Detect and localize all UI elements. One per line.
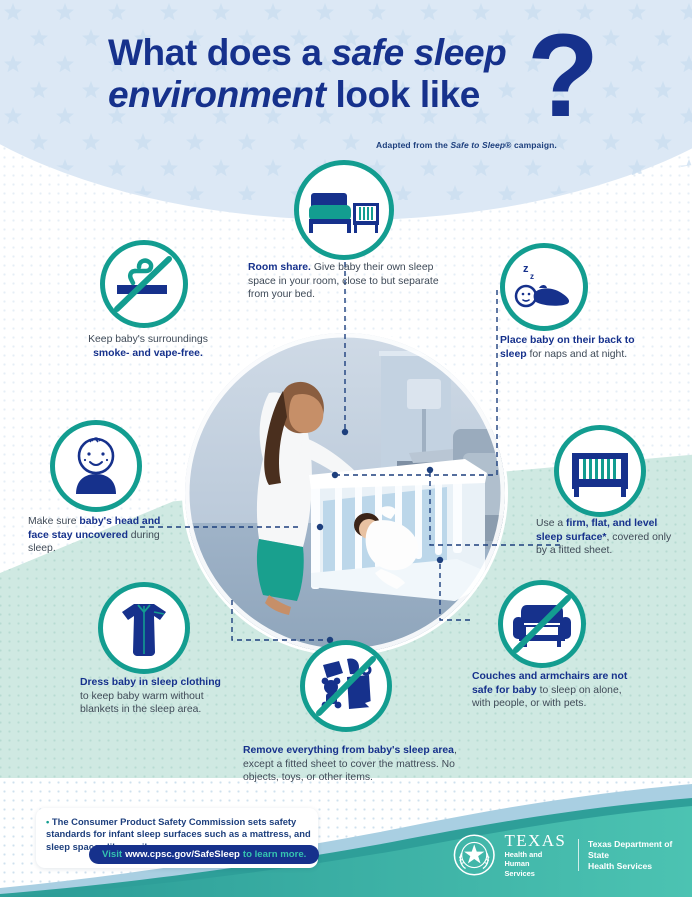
question-mark: ? [527,17,599,135]
crib-icon [554,425,646,517]
callout-head-uncovered: Make sure baby's head and face stay unco… [28,515,168,556]
callout-room-share: Room share. Give baby their own sleep sp… [248,261,448,302]
callout-head-uncovered-text-a: Make sure [28,516,79,527]
dshs-line-2: Health Services [588,861,692,872]
no-smoking-icon [100,240,188,328]
title-part-2: safe sleep [331,32,506,73]
cpsc-link-button[interactable]: Visit www.cpsc.gov/SafeSleep to learn mo… [89,845,319,864]
baby-face-icon [50,420,142,512]
texas-hhs-wordmark: TEXAS Health and Human Services [504,832,567,878]
callout-firm-surface-text-a: Use a [536,518,566,529]
attribution-campaign: Safe to Sleep [450,140,505,150]
sleeping-baby-icon: z z [500,243,588,331]
crib-photo [185,333,505,653]
title-part-4: look like [326,74,480,115]
texas-seal-icon [453,833,495,877]
crib-photo-illustration [185,333,505,653]
callout-back-to-sleep-text-c: for naps and at night. [527,349,628,360]
callout-no-couches: Couches and armchairs are not safe for b… [472,670,632,711]
attribution-prefix: Adapted from the [376,140,450,150]
dshs-line-1: Texas Department of State [588,839,692,861]
callout-remove-objects: Remove everything from baby's sleep area… [243,744,458,785]
dshs-wordmark: Texas Department of State Health Service… [588,839,692,872]
callout-sleep-clothing-text-c: to keep baby warm without blankets in th… [80,691,204,716]
hhs-line-2: Services [504,869,567,878]
callout-smoke-free-text-b: smoke- and vape-free. [93,348,203,359]
no-armchair-icon [498,580,586,668]
callout-back-to-sleep: Place baby on their back to sleep for na… [500,334,650,361]
cpsc-link-url: www.cpsc.gov/SafeSleep [125,849,240,860]
hhs-line-1: Health and Human [504,850,567,868]
callout-remove-objects-text-b: Remove everything from baby's sleep area [243,745,454,756]
no-objects-icon [300,640,392,732]
cpsc-link-prefix: Visit [102,849,122,860]
callout-sleep-clothing-text-b: Dress baby in sleep clothing [80,677,221,688]
svg-text:z: z [523,263,529,275]
logo-divider [578,839,579,871]
callout-smoke-free-text-a: Keep baby's surroundings [88,334,208,345]
callout-room-share-text-b: Room share. [248,262,311,273]
callout-firm-surface: Use a firm, flat, and level sleep surfac… [536,517,682,558]
callout-sleep-clothing: Dress baby in sleep clothing to keep bab… [80,676,230,717]
texas-hhs-logo: TEXAS Health and Human Services Texas De… [453,832,692,878]
svg-text:z: z [530,272,534,281]
bed-and-crib-icon [294,160,394,260]
texas-word: TEXAS [504,832,567,849]
callout-smoke-free: Keep baby's surroundings smoke- and vape… [83,333,213,360]
attribution-suffix: ® campaign. [505,140,557,150]
sleep-sack-icon [98,582,190,674]
footer-note-bullet: • [46,816,49,827]
title-part-1: What does a [108,32,331,73]
page-title: What does a safe sleep environment look … [108,32,578,116]
cpsc-link-suffix: to learn more. [243,849,306,860]
infographic-poster: What does a safe sleep environment look … [0,0,692,897]
attribution: Adapted from the Safe to Sleep® campaign… [376,140,557,150]
title-part-3: environment [108,74,326,115]
